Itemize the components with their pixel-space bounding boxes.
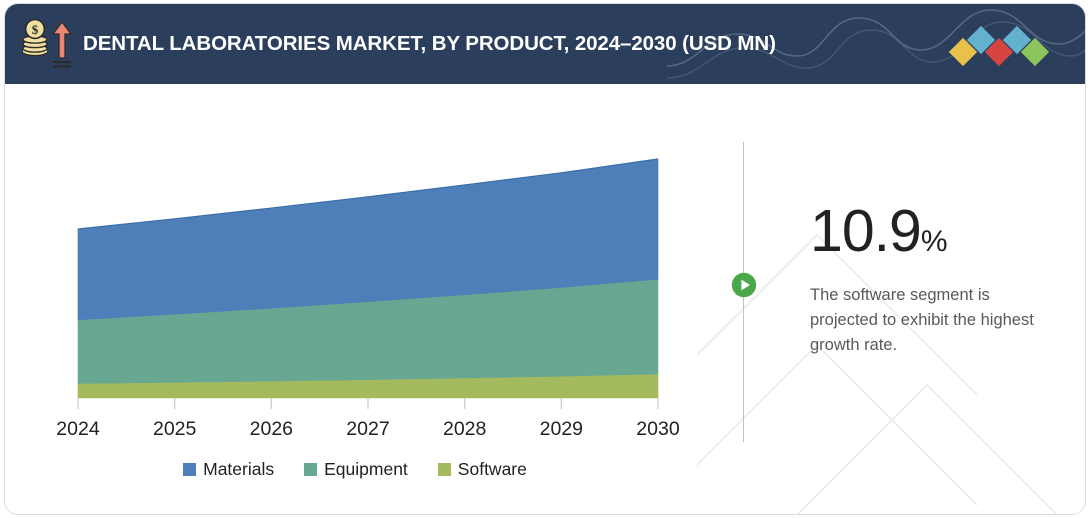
page-title: DENTAL LABORATORIES MARKET, BY PRODUCT, … <box>83 4 776 84</box>
chart-plot: 2024202520262027202820292030 <box>5 84 705 454</box>
play-circle-icon <box>731 272 757 298</box>
legend-label-materials: Materials <box>203 459 274 480</box>
chart-areas <box>78 159 658 398</box>
x-axis-label-2027: 2027 <box>346 418 389 440</box>
money-growth-icon: $ <box>19 18 75 70</box>
x-axis-label-2024: 2024 <box>56 418 100 440</box>
header-bar: $ DENTAL LABORATORIES MARKET, BY PRODUCT… <box>5 4 1086 84</box>
legend-label-equipment: Equipment <box>324 459 408 480</box>
x-axis-label-2025: 2025 <box>153 418 197 440</box>
legend-swatch-materials <box>183 463 196 476</box>
legend-swatch-software <box>438 463 451 476</box>
legend-label-software: Software <box>458 459 527 480</box>
content-area: 2024202520262027202820292030 Materials E… <box>5 84 1086 515</box>
x-axis-label-2029: 2029 <box>540 418 583 440</box>
chart-legend: Materials Equipment Software <box>5 459 705 480</box>
stat-description: The software segment is projected to exh… <box>810 283 1060 358</box>
svg-text:$: $ <box>32 22 39 37</box>
stat-value-number: 10.9 <box>810 198 921 264</box>
stat-value-unit: % <box>921 225 948 258</box>
x-axis-label-2030: 2030 <box>636 418 680 440</box>
x-axis-label-2028: 2028 <box>443 418 486 440</box>
stat-value-row: 10.9% <box>810 202 1060 261</box>
legend-swatch-equipment <box>304 463 317 476</box>
diamond-logo <box>949 18 1069 72</box>
legend-item-equipment[interactable]: Equipment <box>304 459 408 480</box>
legend-item-materials[interactable]: Materials <box>183 459 274 480</box>
chart-x-axis-labels: 2024202520262027202820292030 <box>56 418 680 440</box>
x-axis-label-2026: 2026 <box>250 418 293 440</box>
highlight-stat: 10.9% The software segment is projected … <box>810 202 1060 358</box>
infographic-card: $ DENTAL LABORATORIES MARKET, BY PRODUCT… <box>4 3 1086 515</box>
chart-axis-ticks <box>78 398 658 409</box>
stacked-area-chart: 2024202520262027202820292030 Materials E… <box>5 84 705 515</box>
legend-item-software[interactable]: Software <box>438 459 527 480</box>
